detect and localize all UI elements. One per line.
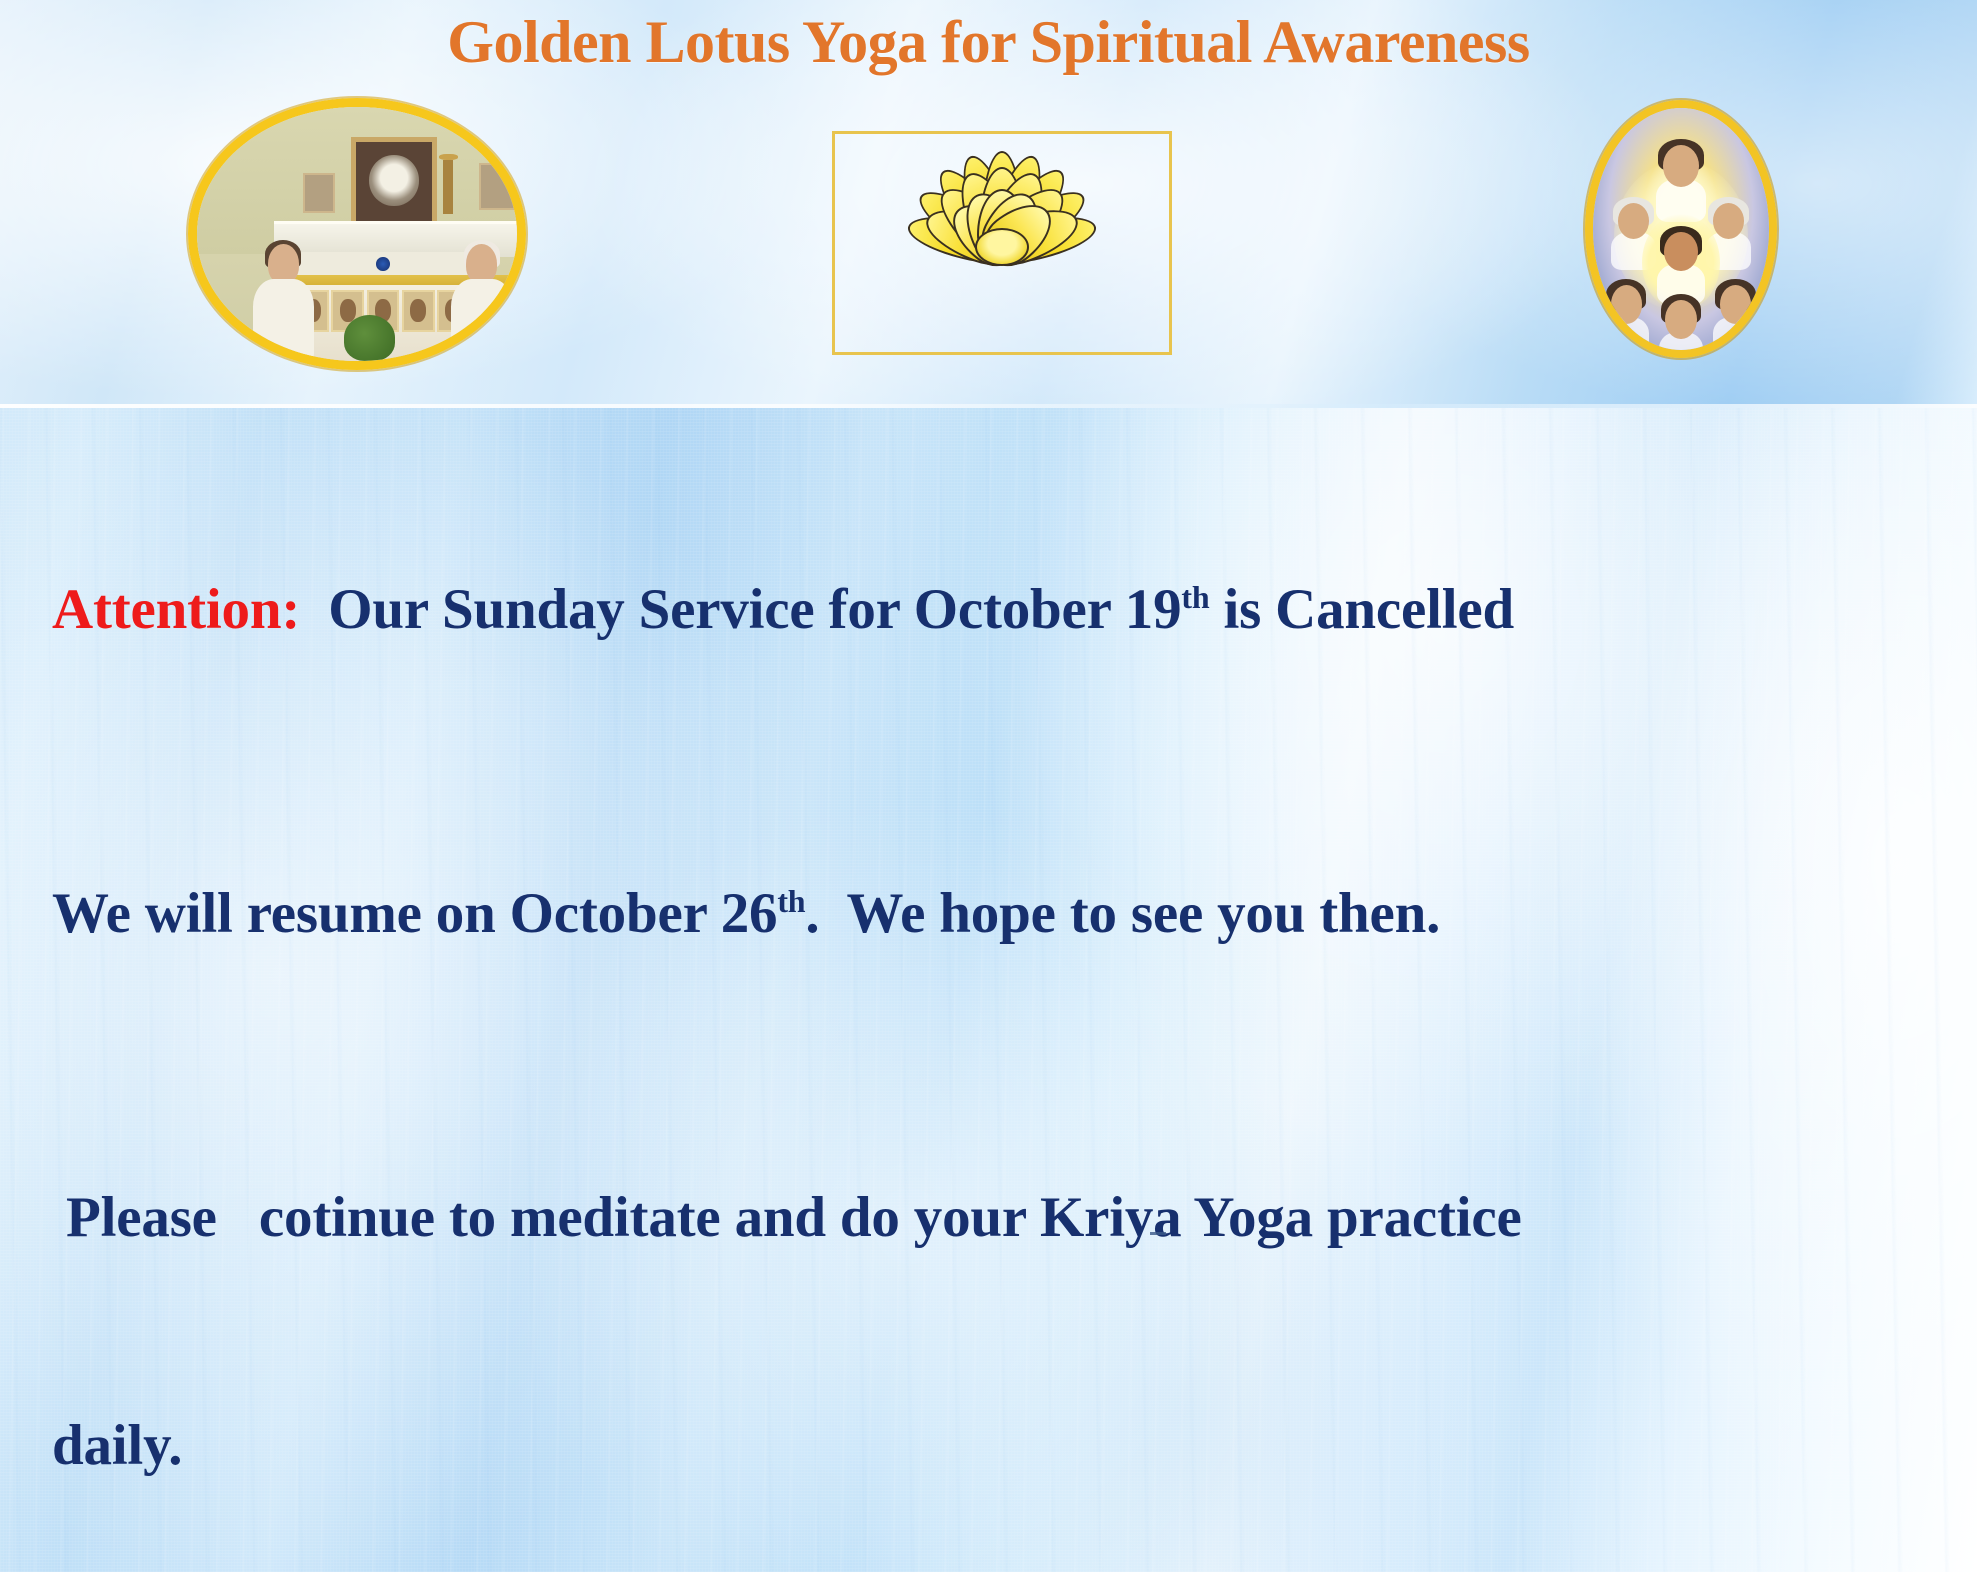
announcement-block: Attention: Our Sunday Service for Octobe… bbox=[52, 420, 1952, 1572]
altar-small-picture-right bbox=[479, 163, 515, 210]
masters-photo-content bbox=[1593, 108, 1769, 350]
announcement-line-4: daily. bbox=[52, 1408, 1952, 1484]
flyer-body: Attention: Our Sunday Service for Octobe… bbox=[52, 420, 1952, 1572]
master-portrait-bottom-left bbox=[1600, 282, 1653, 355]
altar-photo bbox=[188, 98, 526, 370]
master-portrait-center bbox=[1653, 229, 1709, 302]
flyer-page: Golden Lotus Yoga for Spiritual Awarenes… bbox=[0, 0, 1977, 1572]
attention-label: Attention: bbox=[52, 578, 300, 641]
master-portrait-bottom-right bbox=[1709, 282, 1762, 355]
announcement-line-1-text-a: Our Sunday Service for October 19 bbox=[300, 578, 1181, 641]
altar-flowers bbox=[344, 315, 395, 361]
head bbox=[466, 244, 497, 284]
announcement-line-1-text-b: is Cancelled bbox=[1209, 578, 1514, 641]
master-portrait-bottom-center bbox=[1655, 297, 1708, 358]
announcement-line-3: Please cotinue to meditate and do your K… bbox=[52, 1180, 1952, 1256]
master-portrait-top bbox=[1651, 142, 1711, 219]
altar-framed-lotus-art bbox=[351, 137, 438, 228]
altar-guru-portrait bbox=[402, 290, 435, 332]
ordinal-suffix-19: th bbox=[1181, 579, 1209, 615]
altar-small-picture-left bbox=[303, 173, 336, 213]
lotus-center bbox=[975, 228, 1029, 266]
altar-blue-medallion bbox=[376, 257, 389, 271]
torso bbox=[451, 279, 512, 361]
person-mary-ann bbox=[251, 244, 315, 361]
altar-photo-content bbox=[197, 107, 517, 361]
head bbox=[268, 244, 299, 284]
announcement-line-2-text-b: . We hope to see you then. bbox=[805, 882, 1440, 945]
announcement-line-1: Attention: Our Sunday Service for Octobe… bbox=[52, 572, 1952, 648]
page-title: Golden Lotus Yoga for Spiritual Awarenes… bbox=[0, 8, 1977, 77]
masters-photo bbox=[1585, 100, 1777, 358]
torso bbox=[253, 279, 314, 361]
announcement-line-2: We will resume on October 26th. We hope … bbox=[52, 876, 1952, 952]
golden-lotus-icon bbox=[852, 143, 1152, 351]
announcement-line-2-text-a: We will resume on October 26 bbox=[52, 882, 777, 945]
ordinal-suffix-26: th bbox=[777, 883, 805, 919]
altar-candle bbox=[443, 160, 453, 213]
golden-lotus-frame bbox=[832, 131, 1172, 355]
header-divider bbox=[0, 404, 1977, 408]
person-roy bbox=[450, 244, 514, 361]
stray-dash-mark bbox=[1150, 1232, 1166, 1235]
